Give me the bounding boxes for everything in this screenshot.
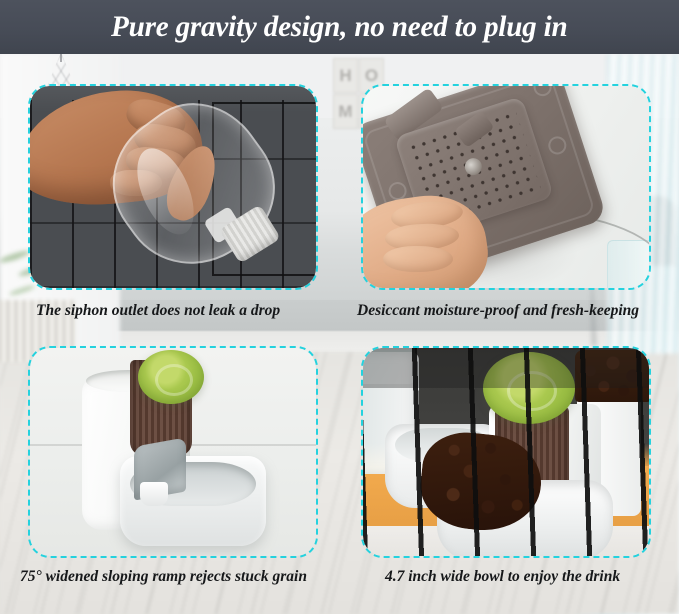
finger — [383, 246, 453, 272]
infographic-root: H O M E Pure gravity design, no need to … — [0, 0, 679, 614]
panel-4-content — [363, 348, 649, 556]
outlet-spout — [140, 482, 168, 506]
feature-panel-ramp — [28, 346, 318, 558]
caption-desiccant: Desiccant moisture-proof and fresh-keepi… — [357, 302, 639, 320]
feature-panel-siphon — [28, 84, 318, 290]
banner-title: Pure gravity design, no need to plug in — [111, 10, 567, 44]
panel-1-content — [30, 86, 316, 288]
panel-3-content — [30, 348, 316, 556]
header-banner: Pure gravity design, no need to plug in — [0, 0, 679, 54]
green-lid — [138, 350, 204, 404]
home-block-letter: M — [333, 94, 358, 129]
caption-ramp: 75° widened sloping ramp rejects stuck g… — [20, 568, 307, 586]
bottle-highlight — [126, 140, 205, 243]
feature-panel-desiccant — [361, 84, 651, 290]
caption-siphon: The siphon outlet does not leak a drop — [36, 302, 280, 320]
feeder-bowl — [120, 456, 266, 546]
panel-2-content — [363, 86, 649, 288]
cage-top-shadow — [363, 348, 649, 388]
home-block-letter: H — [333, 58, 358, 93]
caption-bowl: 4.7 inch wide bowl to enjoy the drink — [385, 568, 620, 586]
feature-panel-bowl — [361, 346, 651, 558]
